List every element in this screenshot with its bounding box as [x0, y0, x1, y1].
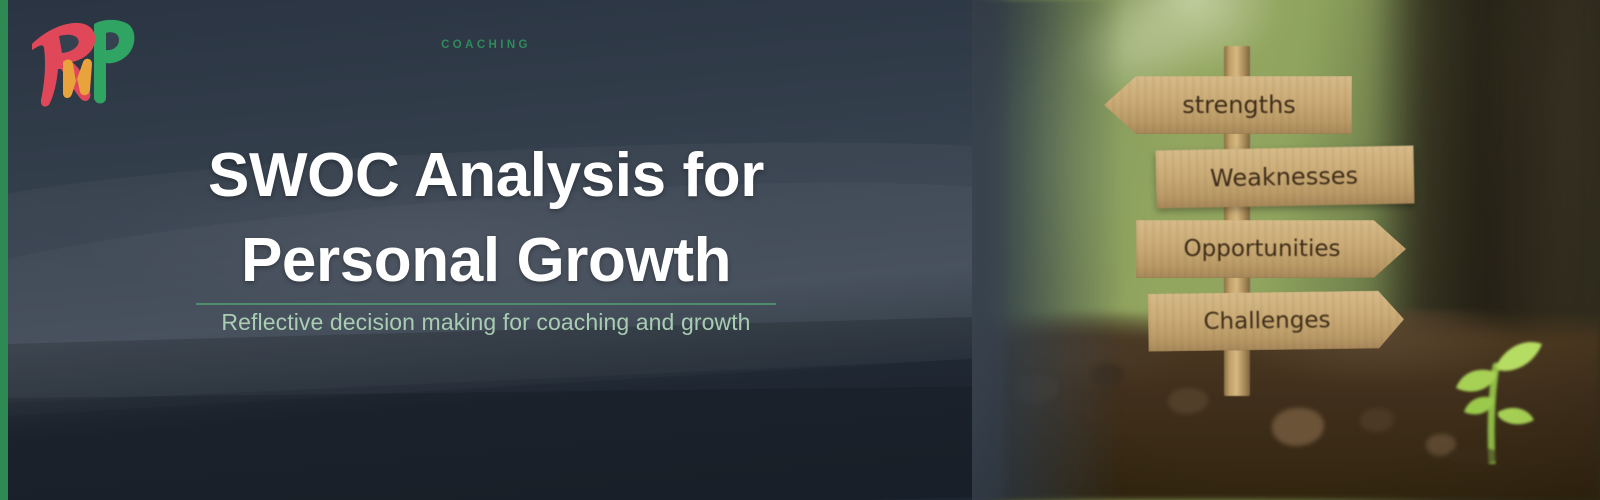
photo-left-edge: [972, 0, 1012, 500]
sign-challenges: Challenges: [1148, 290, 1405, 352]
sign-opportunities: Opportunities: [1136, 220, 1406, 278]
page-title-line-1: SWOC Analysis for: [0, 134, 972, 219]
rnp-logo[interactable]: [22, 6, 138, 112]
hero-photo-panel: strengths Weaknesses Opportunities Chall…: [972, 0, 1600, 500]
sign-strengths: strengths: [1104, 76, 1352, 134]
sign-label: strengths: [1104, 91, 1352, 119]
hero-banner: COACHING SWOC Analysis for Personal Grow…: [0, 0, 1600, 500]
page-subtitle: Reflective decision making for coaching …: [0, 309, 972, 336]
sign-label: Weaknesses: [1156, 161, 1414, 194]
sign-label: Opportunities: [1136, 236, 1406, 262]
sign-weaknesses: Weaknesses: [1155, 146, 1414, 209]
left-accent-bar: [0, 0, 8, 500]
page-title-line-2: Personal Growth: [0, 219, 972, 304]
hero-content: COACHING SWOC Analysis for Personal Grow…: [0, 0, 972, 500]
swoc-signpost: strengths Weaknesses Opportunities Chall…: [1100, 46, 1430, 416]
page-title: SWOC Analysis for Personal Growth: [0, 134, 972, 304]
sign-label: Challenges: [1148, 306, 1404, 336]
title-divider: [196, 303, 776, 305]
eyebrow-label: COACHING: [0, 39, 972, 51]
seedling-icon: [1434, 294, 1554, 464]
